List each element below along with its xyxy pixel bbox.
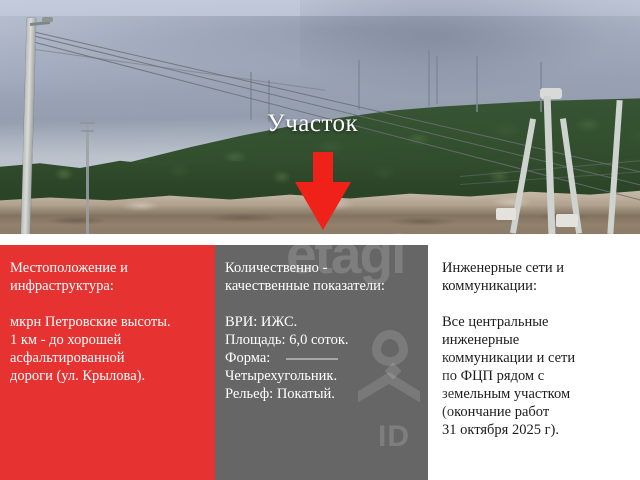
pole-crossarm (81, 130, 94, 132)
panel-metrics-title: Количественно - качественные показатели: (225, 259, 420, 295)
property-photo: Участок (0, 0, 640, 234)
lattice-tower-icon (358, 60, 360, 110)
listing-card: Участок Местоположение и инфраструктура:… (0, 0, 640, 480)
pylon-footing (496, 208, 516, 220)
panel-utilities-body: Все центральные инженерные коммуникации … (442, 313, 630, 439)
lattice-tower-icon (476, 56, 478, 112)
info-panels: Местоположение и инфраструктура: мкрн Пе… (0, 245, 640, 480)
pylon-footing (556, 214, 578, 227)
lattice-tower-icon (540, 62, 542, 112)
panel-location-body: мкрн Петровские высоты. 1 км - до хороше… (10, 313, 205, 385)
metric-area: Площадь: 6,0 соток. (225, 331, 420, 349)
pole-crossarm (80, 122, 95, 124)
metric-vri: ВРИ: ИЖС. (225, 313, 420, 331)
panel-utilities: Инженерные сети и коммуникации: Все цент… (428, 245, 640, 480)
panel-metrics-body: ВРИ: ИЖС. Площадь: 6,0 соток. Форма: Чет… (225, 313, 420, 403)
metric-shape-value: Четырехугольник. (225, 367, 420, 385)
metric-relief: Рельеф: Покатый. (225, 385, 420, 403)
street-lamp-icon (42, 17, 53, 22)
panel-utilities-title: Инженерные сети и коммуникации: (442, 259, 630, 295)
arrow-head (295, 182, 351, 230)
panel-location-title: Местоположение и инфраструктура: (10, 259, 205, 295)
plot-label: Участок (267, 110, 358, 138)
metric-shape-label: Форма: (225, 349, 420, 367)
plot-arrow-icon (295, 152, 351, 230)
panel-metrics: Количественно - качественные показатели:… (215, 245, 428, 480)
lattice-tower-icon (436, 56, 438, 104)
redacted-mark (286, 358, 338, 360)
arrow-shaft (313, 152, 333, 186)
utility-pole-secondary (86, 118, 89, 234)
panel-location: Местоположение и инфраструктура: мкрн Пе… (0, 245, 215, 480)
lattice-tower-icon (428, 50, 430, 106)
